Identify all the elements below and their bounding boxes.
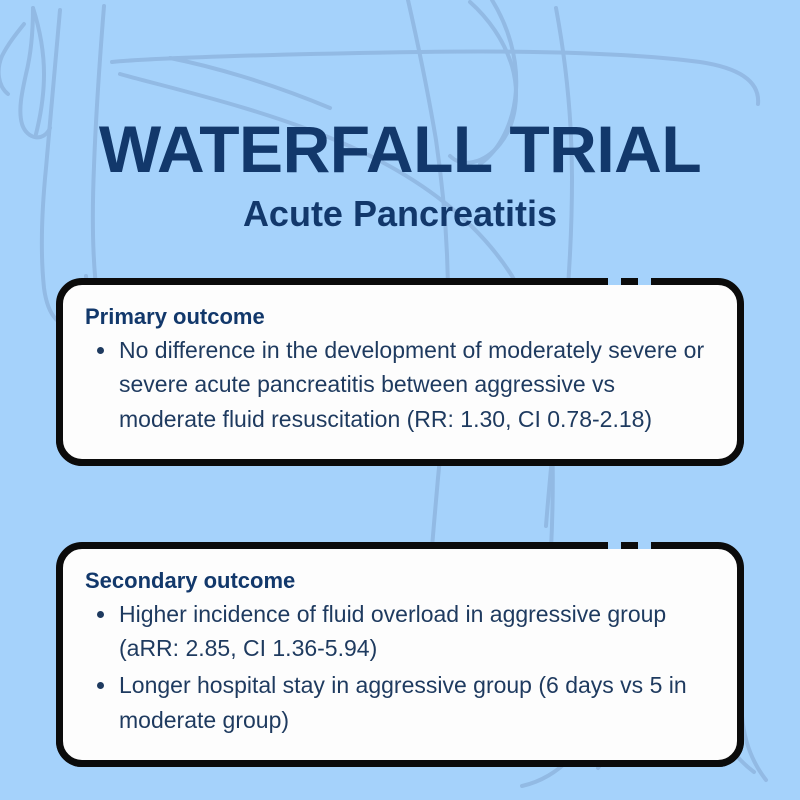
list-item: No difference in the development of mode…: [85, 333, 711, 438]
bullet-text: Longer hospital stay in aggressive group…: [119, 672, 687, 733]
bullet-list-secondary: Higher incidence of fluid overload in ag…: [85, 597, 711, 739]
card-notch-b-primary: [638, 278, 651, 285]
card-panel-secondary: Secondary outcome Higher incidence of fl…: [56, 542, 744, 767]
bullet-text: Higher incidence of fluid overload in ag…: [119, 601, 666, 662]
card-panel-primary: Primary outcome No difference in the dev…: [56, 278, 744, 466]
card-heading-secondary: Secondary outcome: [85, 567, 711, 595]
outcome-card-secondary: Secondary outcome Higher incidence of fl…: [56, 542, 744, 767]
infographic-poster: WATERFALL TRIAL Acute Pancreatitis Prima…: [0, 0, 800, 800]
bullet-dot-icon: [97, 347, 104, 354]
page-subtitle: Acute Pancreatitis: [0, 183, 800, 233]
card-notch-a-primary: [608, 278, 621, 285]
outcome-card-primary: Primary outcome No difference in the dev…: [56, 278, 744, 466]
card-notch-a-secondary: [608, 542, 621, 549]
bullet-dot-icon: [97, 611, 104, 618]
card-heading-primary: Primary outcome: [85, 303, 711, 331]
poster-header: WATERFALL TRIAL Acute Pancreatitis: [0, 0, 800, 233]
bullet-dot-icon: [97, 682, 104, 689]
bullet-list-primary: No difference in the development of mode…: [85, 333, 711, 438]
card-notch-b-secondary: [638, 542, 651, 549]
list-item: Higher incidence of fluid overload in ag…: [85, 597, 711, 667]
list-item: Longer hospital stay in aggressive group…: [85, 668, 711, 738]
bullet-text: No difference in the development of mode…: [119, 337, 704, 433]
page-title: WATERFALL TRIAL: [0, 0, 800, 183]
